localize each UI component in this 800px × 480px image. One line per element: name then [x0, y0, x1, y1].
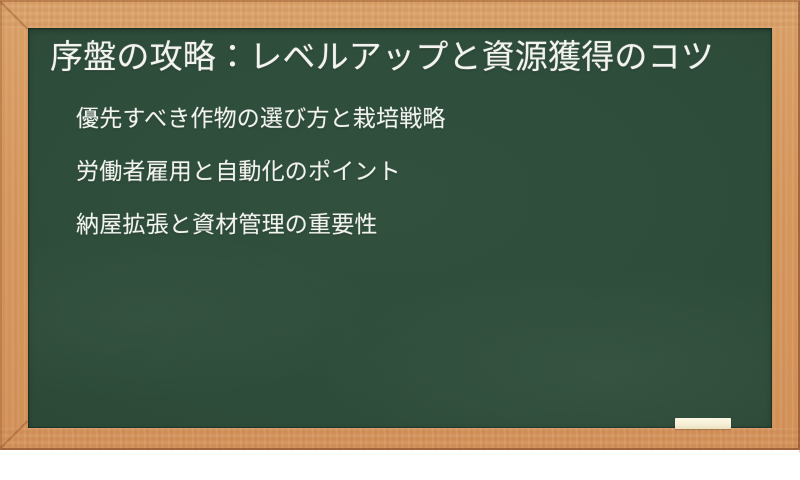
frame-top-rail — [0, 0, 800, 28]
list-item: 納屋拡張と資材管理の重要性 — [76, 213, 750, 236]
blackboard-slide: 序盤の攻略：レベルアップと資源獲得のコツ 優先すべき作物の選び方と栽培戦略 労働… — [0, 0, 800, 450]
frame-mitre-bottom-left — [0, 420, 28, 450]
frame-bottom-rail — [0, 428, 800, 450]
list-item: 労働者雇用と自動化のポイント — [76, 160, 750, 183]
chalkboard-content: 序盤の攻略：レベルアップと資源獲得のコツ 優先すべき作物の選び方と栽培戦略 労働… — [28, 28, 772, 236]
slide-title: 序盤の攻略：レベルアップと資源獲得のコツ — [50, 32, 740, 81]
list-item: 優先すべき作物の選び方と栽培戦略 — [76, 107, 750, 130]
slide-bullet-list: 優先すべき作物の選び方と栽培戦略 労働者雇用と自動化のポイント 納屋拡張と資材管… — [50, 107, 750, 236]
frame-mitre-top-left — [0, 0, 28, 30]
chalkboard-surface: 序盤の攻略：レベルアップと資源獲得のコツ 優先すべき作物の選び方と栽培戦略 労働… — [28, 28, 772, 428]
chalk-stick — [675, 418, 731, 429]
